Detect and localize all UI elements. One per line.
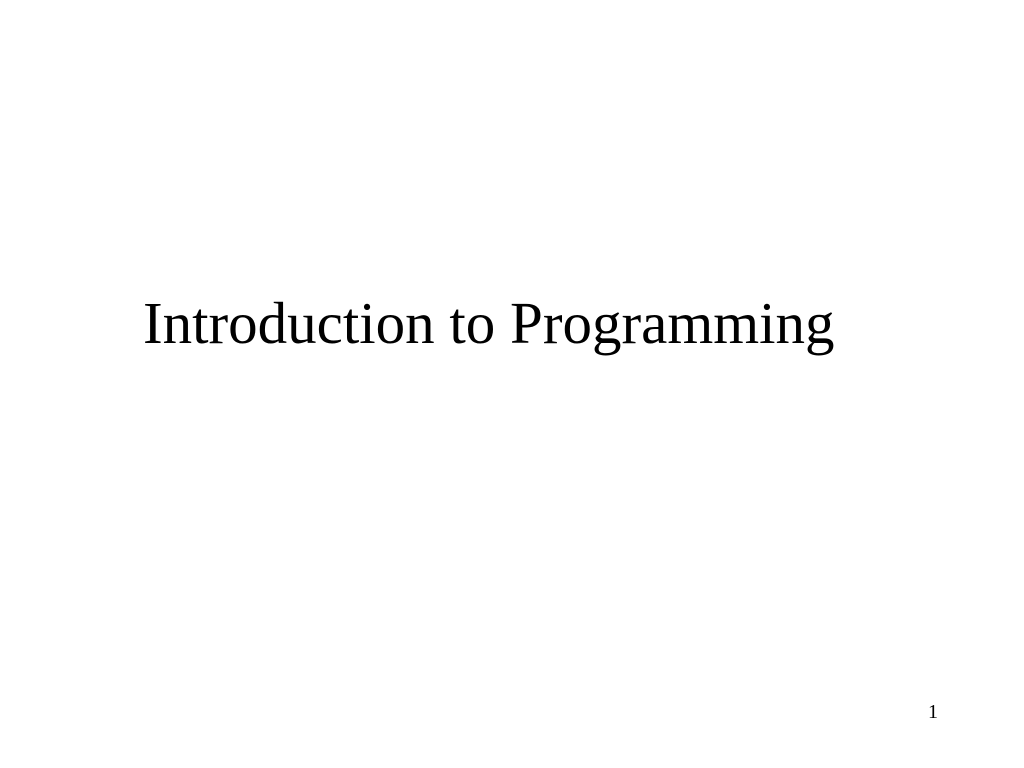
presentation-slide: Introduction to Programming 1 bbox=[0, 0, 1024, 768]
slide-number-footer: 1 bbox=[0, 700, 1024, 730]
title-placeholder: Introduction to Programming bbox=[100, 268, 924, 378]
body-placeholder bbox=[100, 400, 924, 670]
page-title: Introduction to Programming bbox=[100, 290, 835, 356]
slide-number: 1 bbox=[928, 701, 938, 723]
